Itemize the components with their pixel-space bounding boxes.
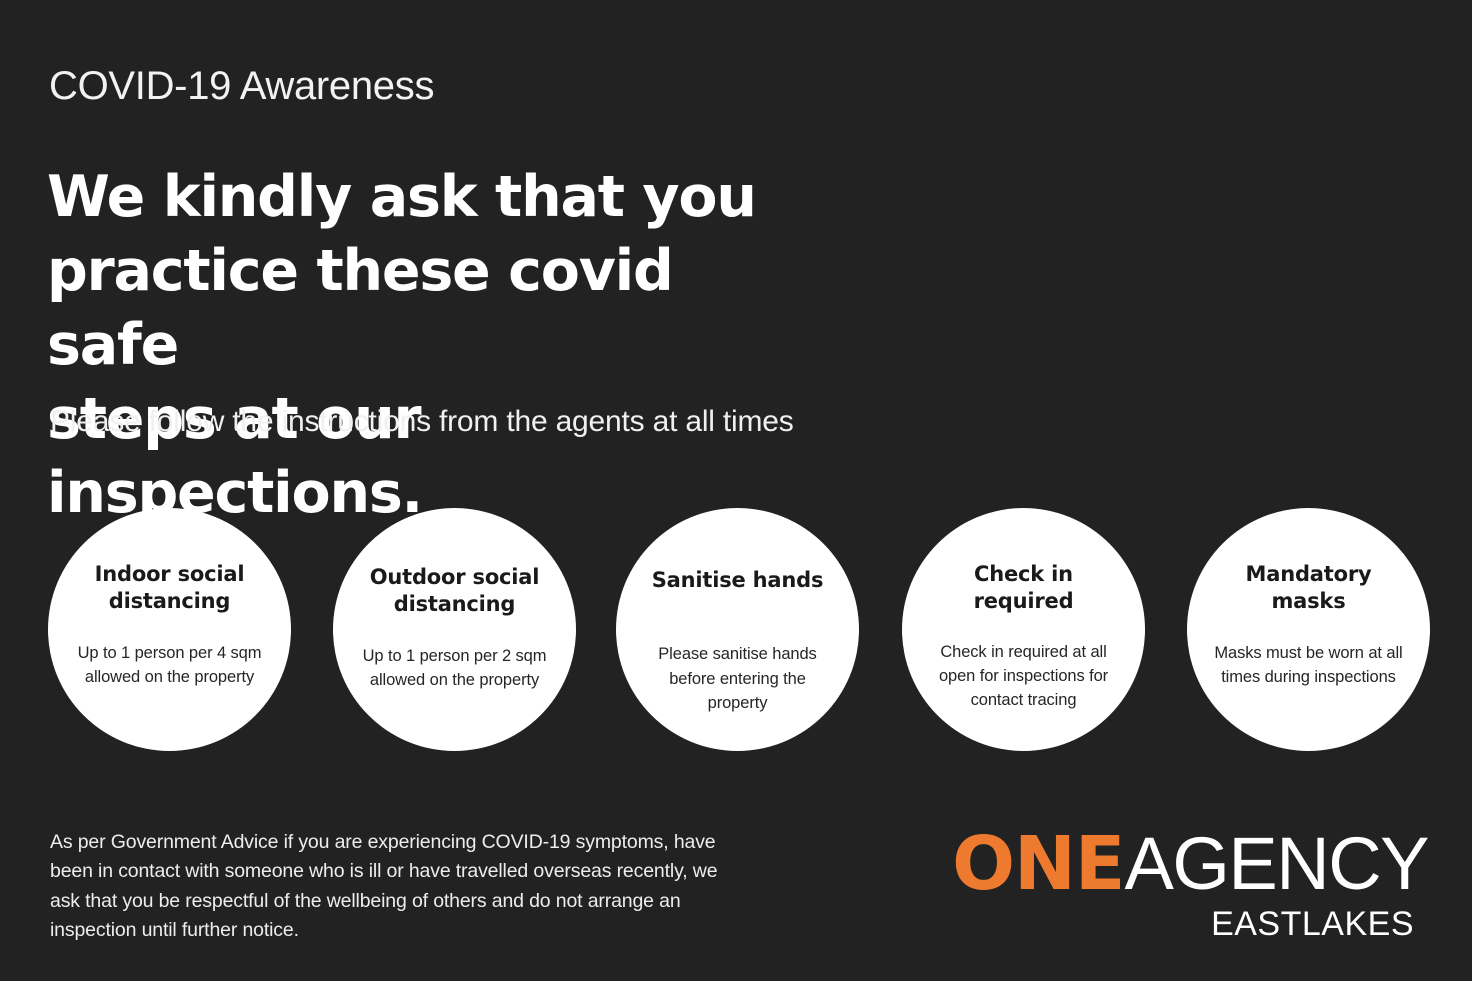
step-title: Outdoor social distancing: [359, 564, 550, 619]
page-eyebrow: COVID-19 Awareness: [49, 64, 434, 108]
covid-steps-row: Indoor social distancing Up to 1 person …: [48, 508, 1428, 752]
step-title: Mandatory masks: [1213, 561, 1404, 616]
step-title: Indoor social distancing: [74, 561, 265, 616]
step-title: Sanitise hands: [652, 567, 824, 594]
step-circle-sanitise-hands: Sanitise hands Please sanitise hands bef…: [616, 508, 859, 751]
step-body: Please sanitise hands before entering th…: [642, 642, 833, 715]
government-advice-disclaimer: As per Government Advice if you are expe…: [50, 828, 750, 945]
step-body: Up to 1 person per 2 sqm allowed on the …: [359, 644, 550, 693]
logo-office-name: EASTLAKES: [948, 905, 1428, 944]
one-agency-logo: ONEAGENCY EASTLAKES: [948, 828, 1428, 944]
step-body: Up to 1 person per 4 sqm allowed on the …: [74, 641, 265, 690]
headline-line-1: We kindly ask that you: [47, 160, 807, 234]
step-circle-outdoor-social-distancing: Outdoor social distancing Up to 1 person…: [333, 508, 576, 751]
poster-canvas: COVID-19 Awareness We kindly ask that yo…: [0, 0, 1472, 981]
step-circle-indoor-social-distancing: Indoor social distancing Up to 1 person …: [48, 508, 291, 751]
page-subheadline: Please follow the instructions from the …: [50, 405, 794, 439]
headline-line-2: practice these covid safe: [47, 234, 807, 382]
step-circle-check-in-required: Check in required Check in required at a…: [902, 508, 1145, 751]
step-body: Masks must be worn at all times during i…: [1213, 641, 1404, 690]
step-circle-mandatory-masks: Mandatory masks Masks must be worn at al…: [1187, 508, 1430, 751]
step-body: Check in required at all open for inspec…: [928, 640, 1119, 713]
page-headline: We kindly ask that you practice these co…: [47, 160, 807, 530]
step-title: Check in required: [928, 561, 1119, 616]
logo-word-one: ONE: [952, 821, 1124, 907]
logo-wordmark: ONEAGENCY: [948, 828, 1428, 900]
logo-word-agency: AGENCY: [1124, 822, 1428, 905]
